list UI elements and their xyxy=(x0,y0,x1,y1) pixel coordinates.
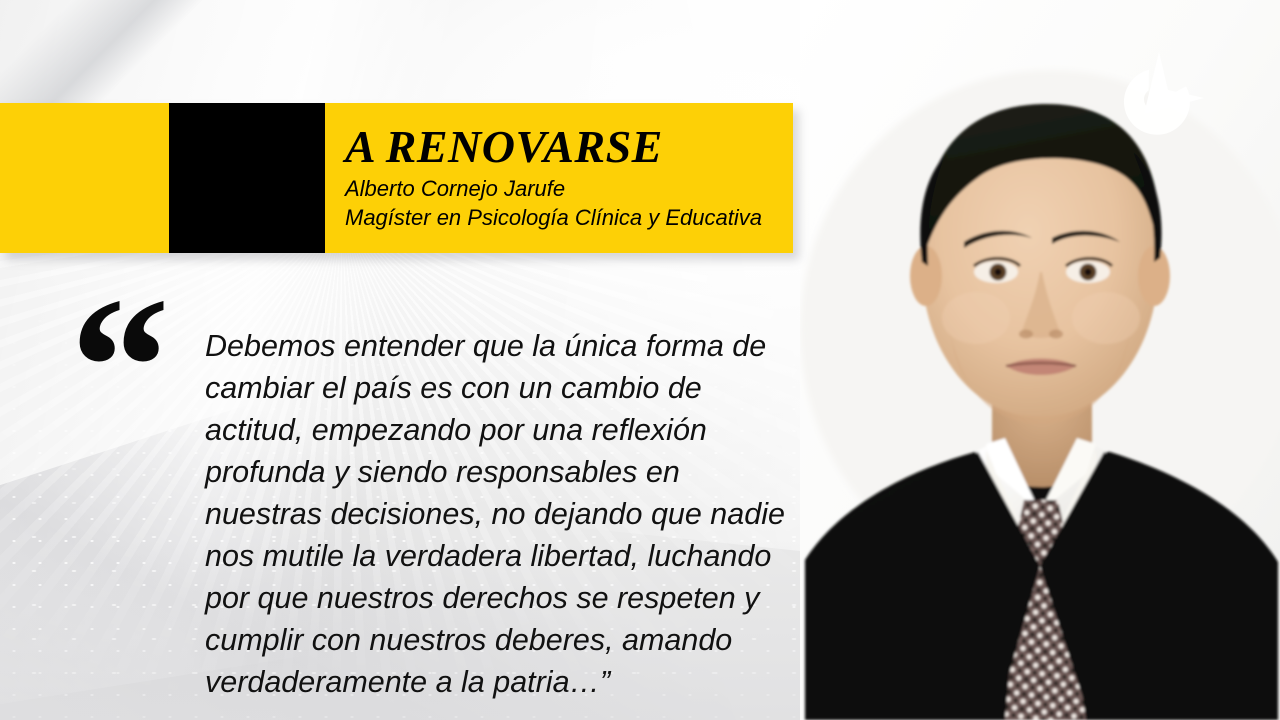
banner-text-group: A RENOVARSE Alberto Cornejo Jarufe Magís… xyxy=(345,103,793,253)
portrait-photo xyxy=(800,0,1280,720)
header-banner: A RENOVARSE Alberto Cornejo Jarufe Magís… xyxy=(0,103,793,253)
quote-line: profunda y siendo responsables en xyxy=(205,451,795,493)
banner-accent-block xyxy=(169,103,325,253)
quote-line: cumplir con nuestros deberes, amando xyxy=(205,619,795,661)
quote-line: verdaderamente a la patria…” xyxy=(205,661,795,703)
quote-line: por que nuestros derechos se respeten y xyxy=(205,577,795,619)
quote-line: nos mutile la verdadera libertad, luchan… xyxy=(205,535,795,577)
page-title: A RENOVARSE xyxy=(345,124,793,171)
author-name: Alberto Cornejo Jarufe xyxy=(345,174,793,203)
quote-card: A RENOVARSE Alberto Cornejo Jarufe Magís… xyxy=(0,0,1280,720)
quote-line: cambiar el país es con un cambio de xyxy=(205,367,795,409)
quote-line: nuestras decisiones, no dejando que nadi… xyxy=(205,493,795,535)
author-credential: Magíster en Psicología Clínica y Educati… xyxy=(345,203,793,232)
quote-text: Debemos entender que la única forma de c… xyxy=(205,325,795,703)
brand-logo xyxy=(1104,48,1208,152)
open-quote-icon: “ xyxy=(70,268,170,468)
quote-line: actitud, empezando por una reflexión xyxy=(205,409,795,451)
quote-line: Debemos entender que la única forma de xyxy=(205,325,795,367)
